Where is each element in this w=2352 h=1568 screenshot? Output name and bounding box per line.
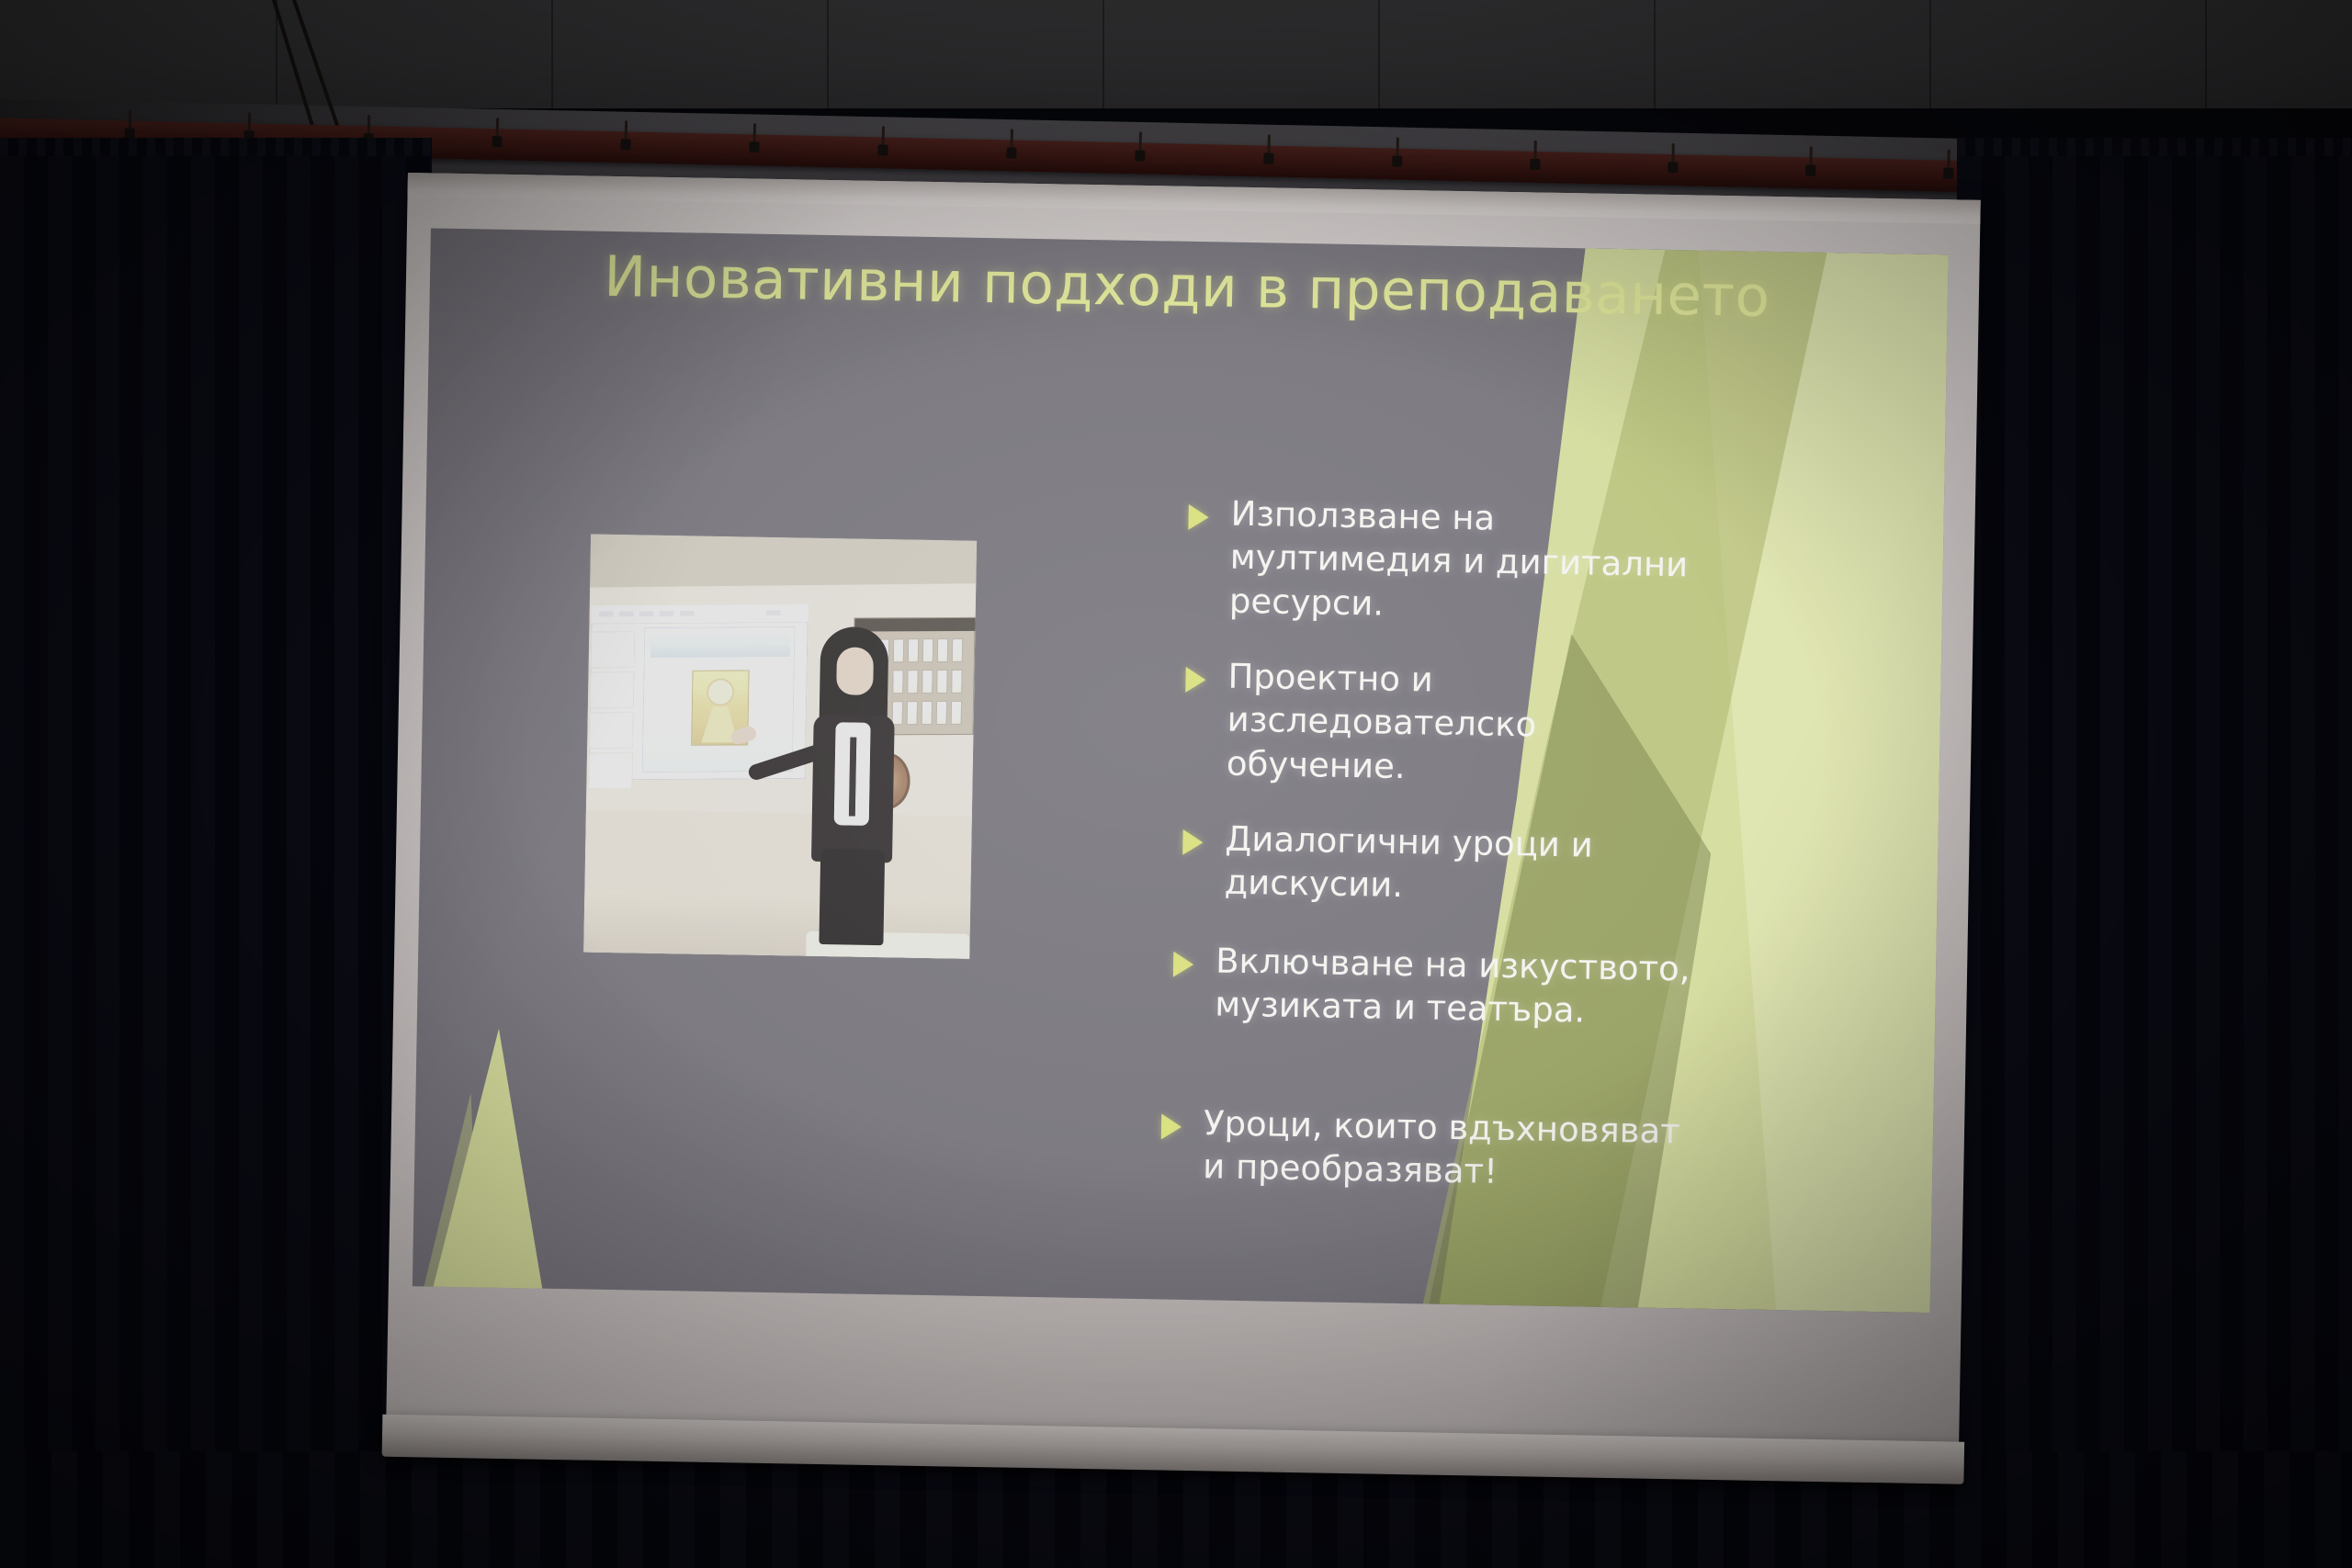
screen-surface: Иновативни подходи в преподаването <box>386 173 1981 1472</box>
bullet-item: Проектно и изследователско обучение. <box>1184 654 1719 794</box>
photo-whiteboard <box>588 604 808 781</box>
bullet-text: Диалогични уроци и дискусии. <box>1224 818 1753 914</box>
bullet-item: Уроци, които вдъхновяват и преобразяват! <box>1160 1100 1713 1197</box>
triangle-bullet-icon <box>1185 667 1205 693</box>
bullet-item: Използване на мултимедия и дигитални рес… <box>1187 491 1722 631</box>
decoration-wedge-left <box>433 1028 548 1292</box>
projection-screen: Иновативни подходи в преподаването <box>385 173 1980 1497</box>
bullet-text: Използване на мултимедия и дигитални рес… <box>1229 492 1722 631</box>
presentation-slide: Иновативни подходи в преподаването <box>413 228 1949 1313</box>
ceiling <box>0 0 2352 108</box>
triangle-bullet-icon <box>1173 952 1193 977</box>
stage-curtain-left <box>0 138 432 1568</box>
bullet-item: Включване на изкуството, музиката и теат… <box>1172 939 1762 1036</box>
slide-photo <box>583 535 977 959</box>
auditorium-scene: Иновативни подходи в преподаването <box>0 0 2352 1568</box>
photo-teacher-face <box>836 647 874 695</box>
bullet-text: Уроци, които вдъхновяват и преобразяват! <box>1203 1101 1713 1197</box>
triangle-bullet-icon <box>1161 1113 1182 1139</box>
photo-projected-slide <box>642 626 796 773</box>
stage-curtain-right <box>1957 138 2352 1568</box>
photo-slide-title-band <box>650 633 790 658</box>
photo-teacher-trousers <box>819 849 885 945</box>
photo-board-toolbar <box>591 604 808 625</box>
triangle-bullet-icon <box>1182 829 1203 855</box>
bullet-text: Включване на изкуството, музиката и теат… <box>1215 939 1762 1035</box>
photo-teacher-scarf <box>849 737 856 816</box>
bullet-item: Диалогични уроци и дискусии. <box>1182 817 1753 914</box>
bullet-text: Проектно и изследователско обучение. <box>1226 655 1718 794</box>
triangle-bullet-icon <box>1188 504 1208 530</box>
photo-teacher <box>795 626 909 945</box>
